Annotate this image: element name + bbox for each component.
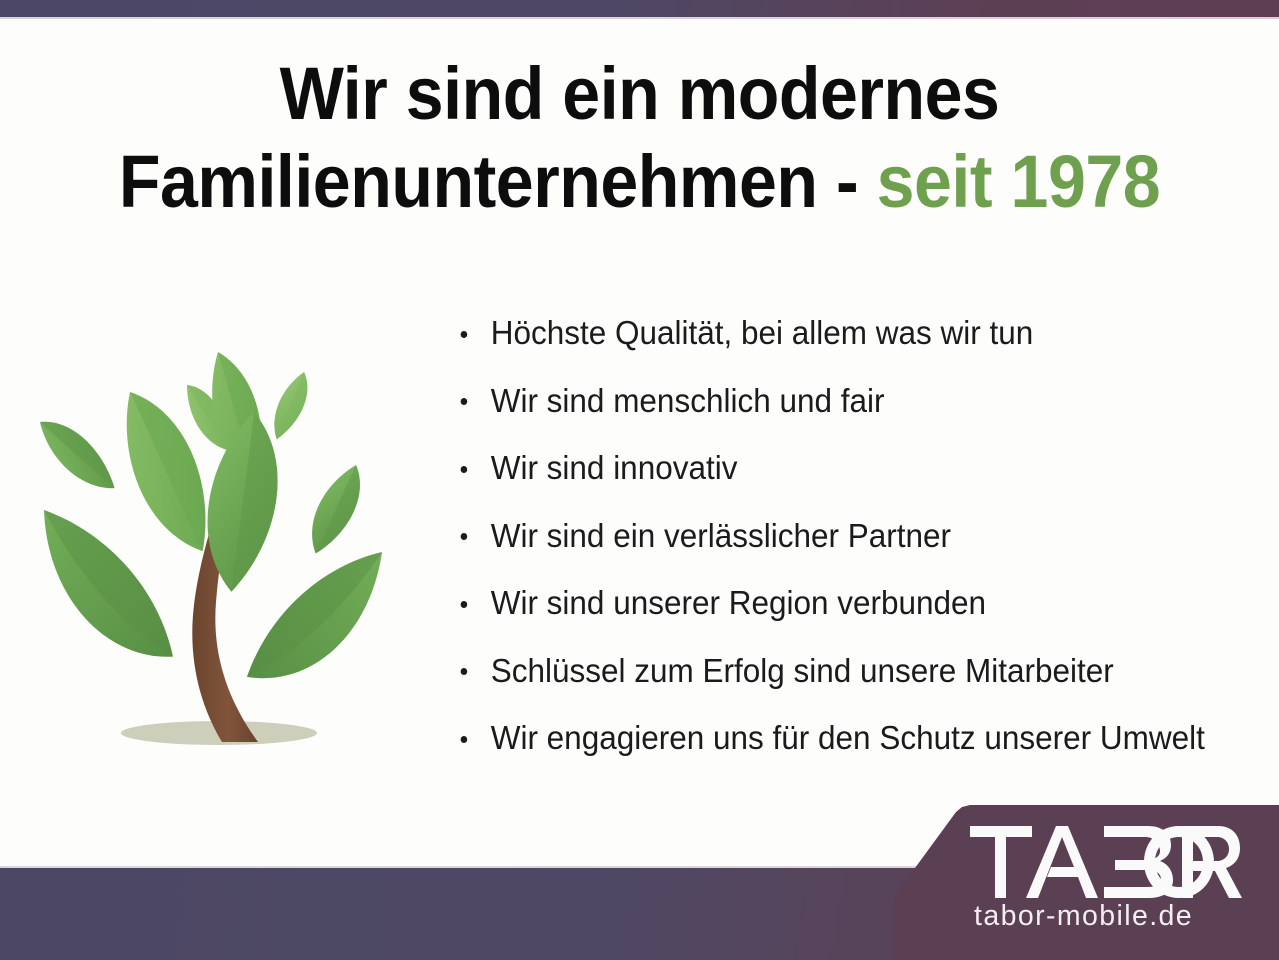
tree-leaf (39, 510, 178, 657)
bullet-dot-icon (461, 668, 468, 675)
list-item: Wir sind unserer Region verbunden (455, 570, 1216, 638)
list-item: Schlüssel zum Erfolg sind unsere Mitarbe… (455, 638, 1216, 706)
bullet-dot-icon (461, 601, 468, 608)
bullet-dot-icon (461, 466, 468, 473)
brand-wordmark (970, 826, 1242, 898)
bullet-dot-icon (461, 533, 468, 540)
tree-illustration (22, 330, 442, 760)
brand-logo-badge: tabor-mobile.de (880, 802, 1279, 960)
brand-url: tabor-mobile.de (974, 900, 1193, 932)
list-item-label: Wir sind unserer Region verbunden (491, 585, 986, 622)
list-item-label: Wir engagieren uns für den Schutz unsere… (491, 720, 1205, 757)
tree-leaf (295, 460, 377, 559)
list-item-label: Wir sind menschlich und fair (491, 383, 885, 420)
page-title-line-1: Wir sind ein modernes (51, 50, 1228, 138)
bullet-dot-icon (461, 398, 468, 405)
list-item-label: Schlüssel zum Erfolg sind unsere Mitarbe… (491, 653, 1114, 690)
list-item: Höchste Qualität, bei allem was wir tun (455, 300, 1216, 368)
value-bullet-list: Höchste Qualität, bei allem was wir tun … (455, 300, 1265, 773)
list-item: Wir sind innovativ (455, 435, 1216, 503)
top-accent-bar (0, 0, 1279, 17)
list-item: Wir sind menschlich und fair (455, 368, 1216, 436)
top-accent-bar-hairline (0, 17, 1279, 19)
page-title-line-2-main: Familienunternehmen - (119, 140, 877, 223)
tree-leaf (33, 406, 121, 505)
list-item-label: Höchste Qualität, bei allem was wir tun (491, 315, 1034, 352)
list-item: Wir engagieren uns für den Schutz unsere… (455, 705, 1216, 773)
list-item-label: Wir sind innovativ (491, 450, 738, 487)
page-title-accent: seit 1978 (877, 140, 1161, 223)
bullet-dot-icon (461, 331, 468, 338)
page-title: Wir sind ein modernes Familienunternehme… (51, 50, 1228, 226)
page-title-line-2: Familienunternehmen - seit 1978 (51, 138, 1228, 226)
tree-leaf (262, 369, 319, 443)
list-item-label: Wir sind ein verlässlicher Partner (491, 518, 951, 555)
bullet-dot-icon (461, 736, 468, 743)
list-item: Wir sind ein verlässlicher Partner (455, 503, 1216, 571)
tree-leaf (247, 543, 382, 686)
slide-canvas: Wir sind ein modernes Familienunternehme… (0, 0, 1279, 960)
